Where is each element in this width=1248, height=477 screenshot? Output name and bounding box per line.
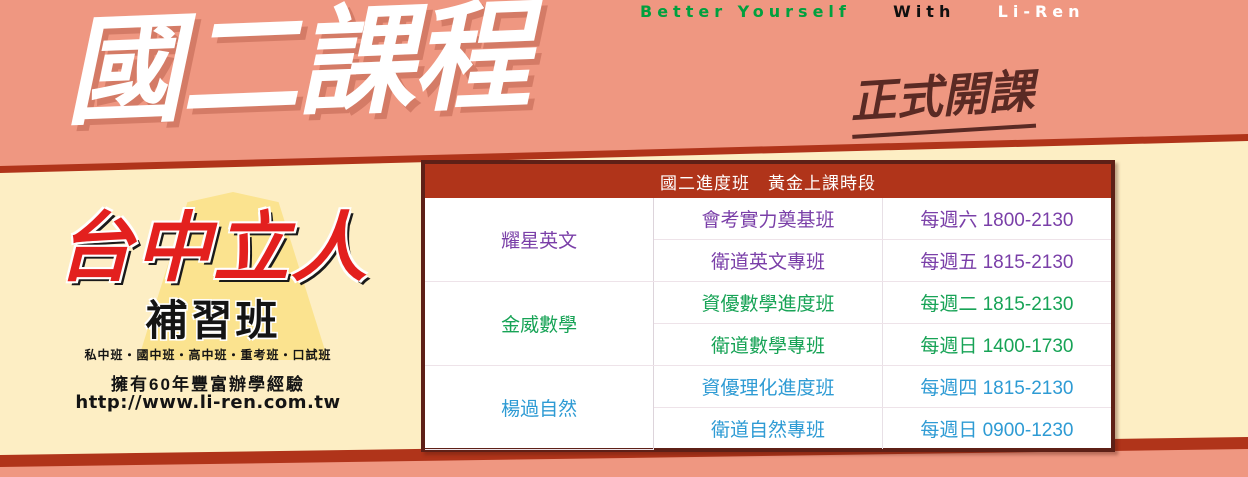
subject-cell: 耀星英文 xyxy=(425,198,654,282)
tagline: Better Yourself With Li-Ren xyxy=(640,2,1085,21)
page-subtitle: 正式開課 xyxy=(848,55,1036,139)
logo-website-url[interactable]: http://www.li-ren.com.tw xyxy=(28,392,388,413)
subject-cell: 金威數學 xyxy=(425,282,654,366)
course-time-cell: 每週六 1800-2130 xyxy=(882,198,1111,240)
course-name-cell: 資優理化進度班 xyxy=(654,366,883,408)
tagline-part-with: With xyxy=(893,2,955,21)
tagline-part-li-ren: Li-Ren xyxy=(998,2,1085,21)
page-title: 國二課程 xyxy=(62,0,530,132)
subject-cell: 楊過自然 xyxy=(425,366,654,450)
logo-brand-subtitle: 補習班 xyxy=(38,300,388,342)
table-header-row: 國二進度班 黃金上課時段 xyxy=(425,164,1111,198)
logo-brand-name: 台中立人 xyxy=(38,210,388,286)
course-time-cell: 每週二 1815-2130 xyxy=(882,282,1111,324)
tagline-part-better-yourself: Better Yourself xyxy=(640,2,851,21)
course-name-cell: 衛道英文專班 xyxy=(654,240,883,282)
schedule-table-body: 耀星英文會考實力奠基班每週六 1800-2130衛道英文專班每週五 1815-2… xyxy=(425,198,1111,449)
table-row: 楊過自然資優理化進度班每週四 1815-2130 xyxy=(425,366,1111,408)
course-time-cell: 每週日 0900-1230 xyxy=(882,408,1111,450)
course-name-cell: 會考實力奠基班 xyxy=(654,198,883,240)
course-time-cell: 每週五 1815-2130 xyxy=(882,240,1111,282)
schedule-table: 國二進度班 黃金上課時段 耀星英文會考實力奠基班每週六 1800-2130衛道英… xyxy=(425,164,1111,450)
schedule-card: 國二進度班 黃金上課時段 耀星英文會考實力奠基班每週六 1800-2130衛道英… xyxy=(421,160,1115,452)
course-time-cell: 每週四 1815-2130 xyxy=(882,366,1111,408)
table-row: 金威數學資優數學進度班每週二 1815-2130 xyxy=(425,282,1111,324)
course-name-cell: 衛道自然專班 xyxy=(654,408,883,450)
promo-banner: Better Yourself With Li-Ren 國二課程 正式開課 台中… xyxy=(0,0,1248,477)
logo-class-list: 私中班・國中班・高中班・重考班・口試班 xyxy=(28,346,388,363)
table-row: 耀星英文會考實力奠基班每週六 1800-2130 xyxy=(425,198,1111,240)
course-name-cell: 資優數學進度班 xyxy=(654,282,883,324)
schedule-table-title: 國二進度班 黃金上課時段 xyxy=(425,164,1111,198)
schedule-table-head: 國二進度班 黃金上課時段 xyxy=(425,164,1111,198)
course-time-cell: 每週日 1400-1730 xyxy=(882,324,1111,366)
logo: 台中立人 補習班 私中班・國中班・高中班・重考班・口試班 擁有60年豐富辦學經驗… xyxy=(28,188,388,420)
course-name-cell: 衛道數學專班 xyxy=(654,324,883,366)
